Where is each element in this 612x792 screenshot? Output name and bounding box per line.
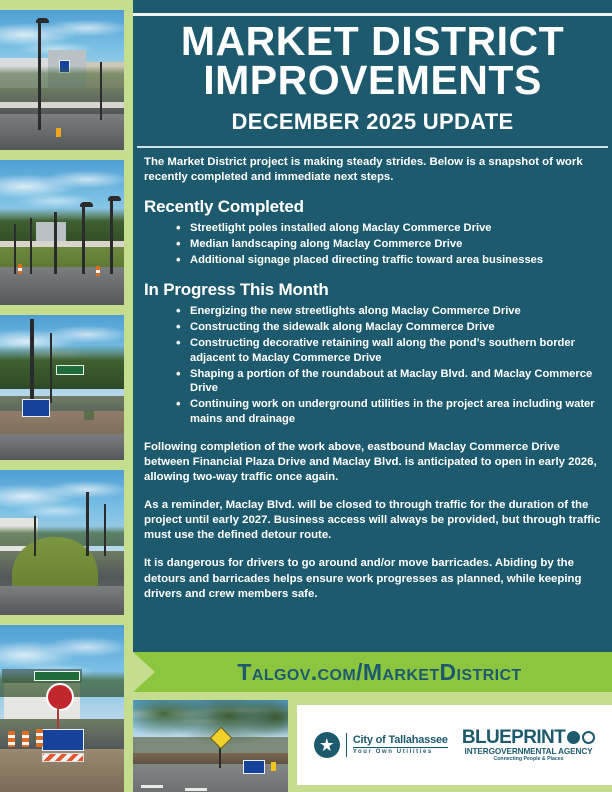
city-logo-tagline: Your Own Utilities (353, 749, 448, 755)
city-seal-icon (314, 732, 340, 758)
paragraph-opening-timeline: Following completion of the work above, … (144, 440, 602, 485)
flyer-page: MARKET DISTRICT IMPROVEMENTS DECEMBER 20… (0, 0, 612, 792)
photo-streetlight-building (0, 10, 124, 150)
title-line-1: MARKET DISTRICT (133, 22, 612, 61)
header-divider (137, 146, 608, 148)
paragraph-closure-reminder: As a reminder, Maclay Blvd. will be clos… (144, 498, 602, 543)
footer-logo-box: City of Tallahassee Your Own Utilities B… (297, 705, 612, 785)
city-logo-name: City of Tallahassee (353, 735, 448, 749)
title-line-2: IMPROVEMENTS (133, 61, 612, 100)
list-item: Constructing the sidewalk along Maclay C… (176, 320, 602, 335)
list-item: Shaping a portion of the roundabout at M… (176, 367, 602, 396)
main-panel: MARKET DISTRICT IMPROVEMENTS DECEMBER 20… (133, 0, 612, 652)
photo-column (0, 0, 124, 792)
city-of-tallahassee-logo: City of Tallahassee Your Own Utilities (314, 732, 448, 758)
photo-tree-lined-roadway (133, 700, 288, 792)
url-banner[interactable]: Talgov.com/MarketDistrict (133, 652, 612, 692)
globe-icon (567, 731, 580, 744)
globe-outline-icon (582, 731, 595, 744)
list-item: Continuing work on underground utilities… (176, 397, 602, 426)
recently-completed-list: Streetlight poles installed along Maclay… (148, 221, 602, 268)
list-item: Streetlight poles installed along Maclay… (176, 221, 602, 236)
list-item: Additional signage placed directing traf… (176, 253, 602, 268)
section-heading-in-progress: In Progress This Month (144, 280, 602, 300)
photo-stop-sign-intersection (0, 625, 124, 792)
photo-streetlights-median (0, 160, 124, 305)
list-item: Constructing decorative retaining wall a… (176, 336, 602, 365)
blueprint-logo-subtitle: INTERGOVERNMENTAL AGENCY (462, 748, 595, 756)
blueprint-logo: BLUEPRINT INTERGOVERNMENTAL AGENCY Conne… (462, 728, 595, 763)
section-heading-recently-completed: Recently Completed (144, 197, 602, 217)
photo-landscaped-median (0, 470, 124, 615)
intro-paragraph: The Market District project is making st… (144, 155, 602, 185)
body-content: The Market District project is making st… (144, 155, 602, 602)
url-banner-label[interactable]: Talgov.com/MarketDistrict (133, 652, 612, 692)
blueprint-logo-tagline: Connecting People & Places (462, 757, 595, 762)
list-item: Energizing the new streetlights along Ma… (176, 304, 602, 319)
in-progress-list: Energizing the new streetlights along Ma… (148, 304, 602, 427)
title-subtitle: DECEMBER 2025 UPDATE (133, 109, 612, 135)
logo-divider (346, 733, 347, 757)
list-item: Median landscaping along Maclay Commerce… (176, 237, 602, 252)
page-title: MARKET DISTRICT IMPROVEMENTS DECEMBER 20… (133, 22, 612, 135)
top-divider (133, 13, 612, 16)
paragraph-safety-notice: It is dangerous for drivers to go around… (144, 556, 602, 601)
photo-directional-signage (0, 315, 124, 460)
blueprint-logo-word: BLUEPRINT (462, 728, 565, 747)
